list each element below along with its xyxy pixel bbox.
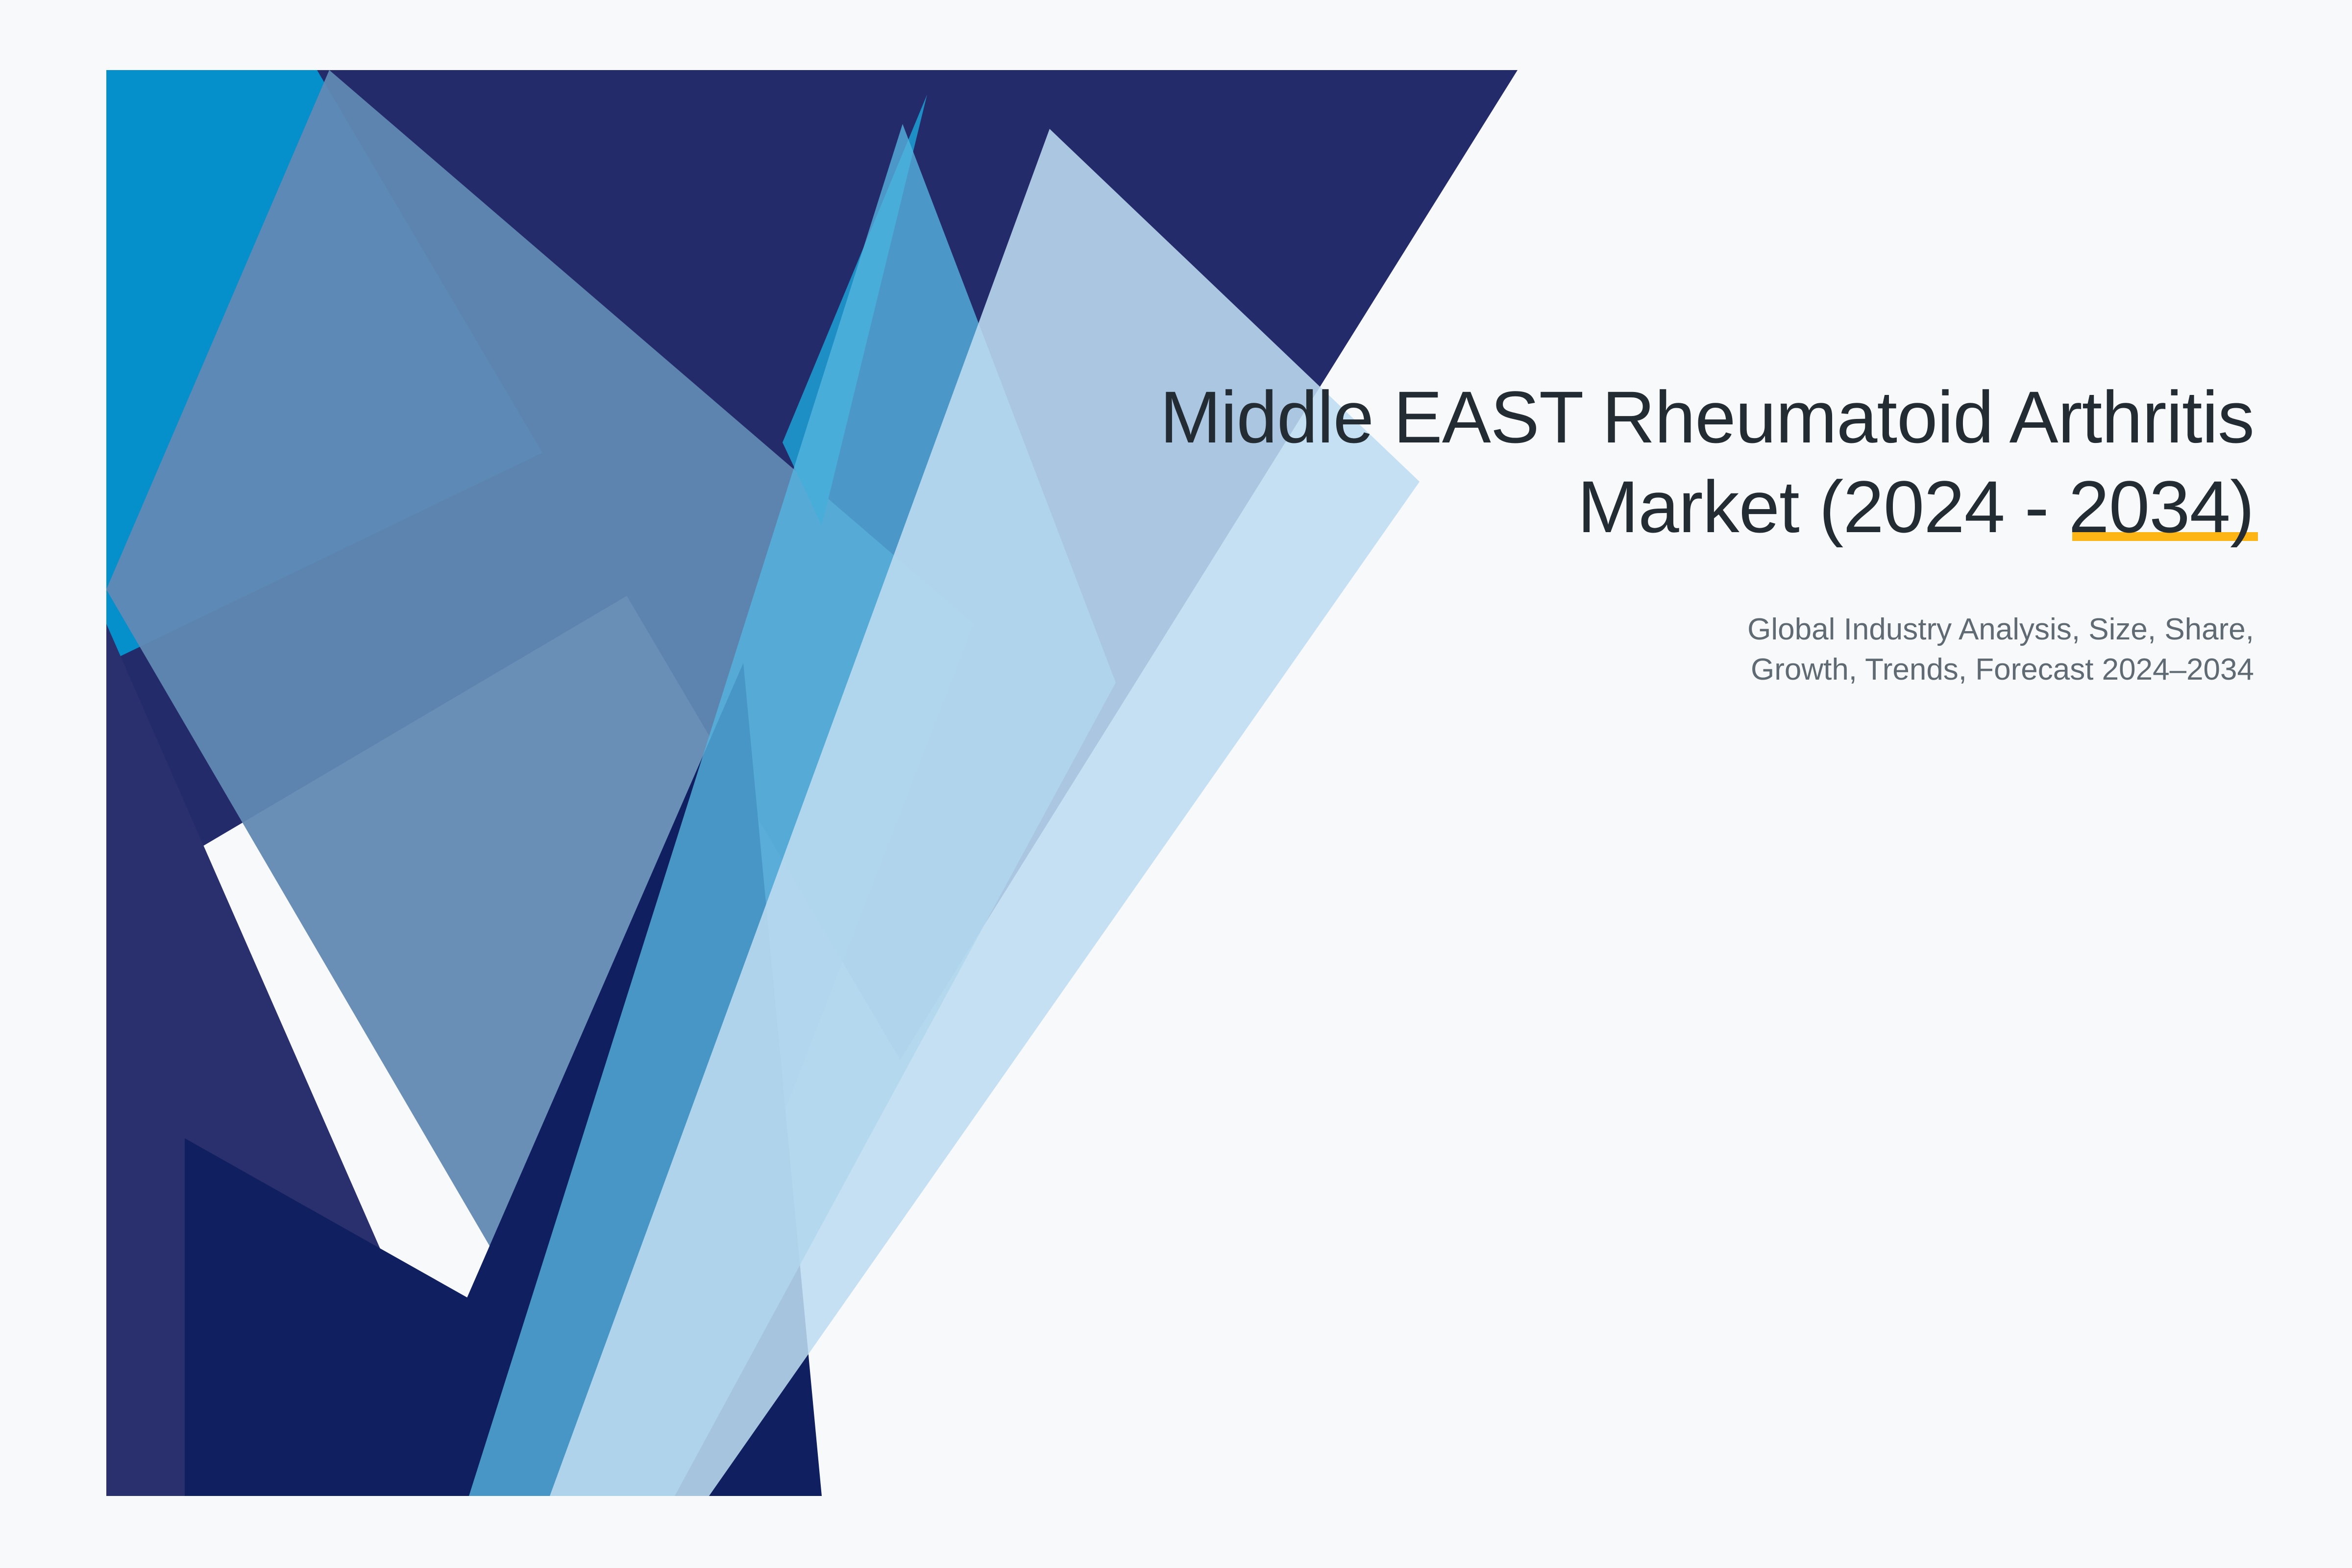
page-subtitle: Global Industry Analysis, Size, Share, G… [911,552,2254,690]
title-line-2-prefix: Market (2024 - [1577,465,2068,548]
subtitle-line-2: Growth, Trends, Forecast 2024–2034 [911,650,2254,690]
artwork-svg [106,70,1518,1496]
abstract-polygon-graphic [106,70,1518,1496]
report-cover: Middle EAST Rheumatoid Arthritis Market … [0,0,2352,1568]
title-highlight-wrap: 2034) [2068,462,2254,552]
page-title: Middle EAST Rheumatoid Arthritis Market … [911,372,2254,552]
cover-text-block: Middle EAST Rheumatoid Arthritis Market … [911,372,2254,690]
subtitle-line-1: Global Industry Analysis, Size, Share, [911,610,2254,650]
title-highlight-text: 2034) [2068,465,2254,548]
title-line-2: Market (2024 - 2034) [911,462,2254,552]
title-line-1: Middle EAST Rheumatoid Arthritis [911,372,2254,462]
